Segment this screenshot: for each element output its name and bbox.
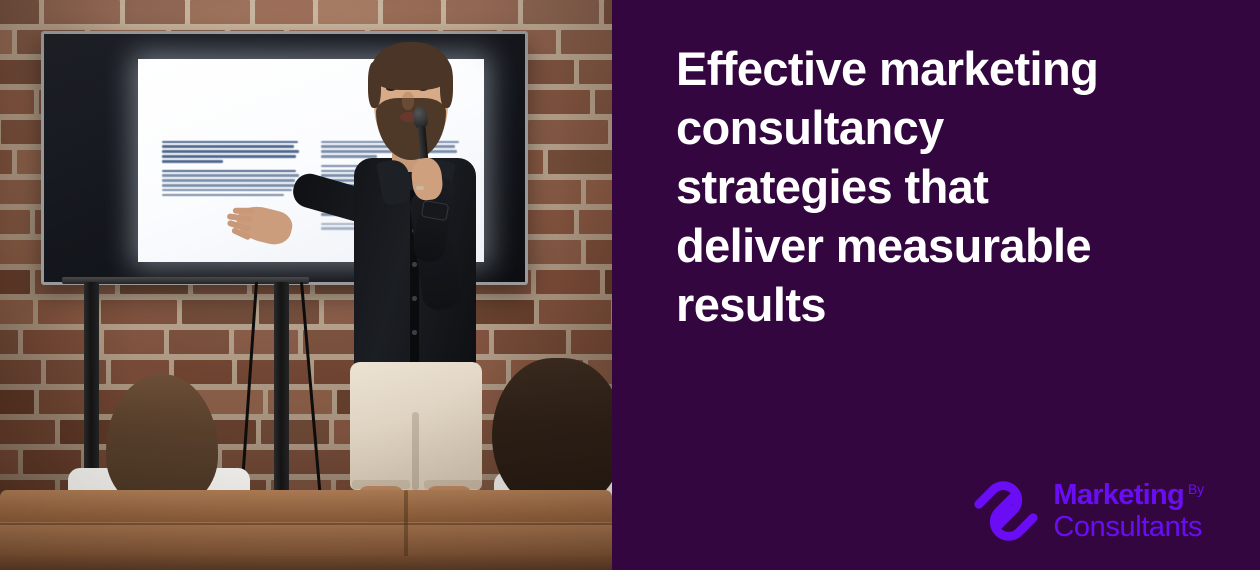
logo-word-by: By [1188,481,1204,496]
logo-word-consultants: Consultants [1053,513,1204,542]
interlocking-links-logo-mark [972,477,1040,545]
logo-wordmark: Marketing By Consultants [1053,481,1204,542]
slide-paragraph [162,141,301,163]
sofa-frame [0,556,612,570]
tv-stand-leg [84,282,99,496]
blog-hero-banner: Effective marketing consultancy strategi… [0,0,1260,570]
slide-paragraph [162,170,301,197]
page-title: Effective marketing consultancy strategi… [676,40,1206,335]
shorts-center-seam [412,412,419,490]
presenter-hair [440,62,453,108]
brand-logo[interactable]: Marketing By Consultants [972,477,1204,545]
headline-panel: Effective marketing consultancy strategi… [612,0,1260,570]
sofa-seam [0,523,612,525]
sofa-backrest [0,490,612,524]
leather-sofa [0,490,612,570]
logo-word-marketing: Marketing [1053,481,1184,510]
tv-stand-leg [274,282,289,496]
tv-stand-crossbar [62,277,309,284]
viewer-hair [492,358,612,508]
presentation-photo [0,0,612,570]
sofa-cushions [0,522,612,558]
finger-ring [416,186,424,190]
sofa-cushion-gap [404,490,408,560]
presenter-hair [368,62,381,108]
